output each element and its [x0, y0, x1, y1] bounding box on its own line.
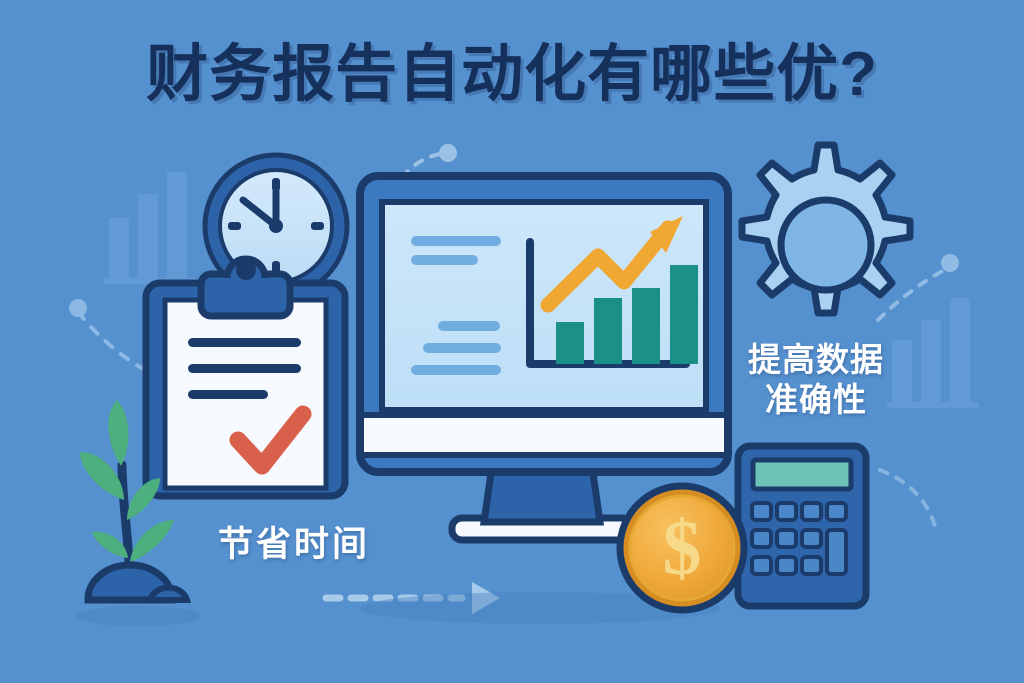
calculator-key — [777, 530, 796, 547]
calculator-key — [777, 557, 796, 574]
calculator-key — [802, 557, 821, 574]
calculator-display — [753, 460, 851, 489]
calculator-key — [752, 503, 771, 520]
chart-bar — [670, 265, 698, 364]
chart-bar — [632, 288, 660, 364]
calculator-key — [777, 503, 796, 520]
label-save-time: 节省时间 — [218, 524, 370, 567]
leaf — [108, 400, 128, 466]
calculator-key — [802, 530, 821, 547]
leaf — [130, 520, 174, 562]
chart-bar — [556, 322, 584, 364]
label-improve-accuracy: 提高数据 准确性 — [736, 340, 896, 421]
label-accuracy-line2: 准确性 — [736, 380, 896, 420]
calculator-key — [802, 503, 821, 520]
calculator-key — [752, 557, 771, 574]
calculator-key-enter — [827, 530, 846, 574]
label-accuracy-line1: 提高数据 — [748, 341, 884, 378]
calculator-key — [827, 503, 846, 520]
calculator-key — [752, 530, 771, 547]
clipboard-icon — [146, 259, 345, 496]
gear-icon — [742, 145, 910, 313]
monitor-bezel-strip — [364, 415, 724, 455]
infographic-canvas: $ 财务报告自动化有哪些优? 节省时间 提高数据 准确性 — [0, 0, 1024, 683]
coin-icon — [620, 486, 744, 610]
calculator-icon — [738, 446, 866, 606]
chart-bar — [594, 298, 622, 364]
